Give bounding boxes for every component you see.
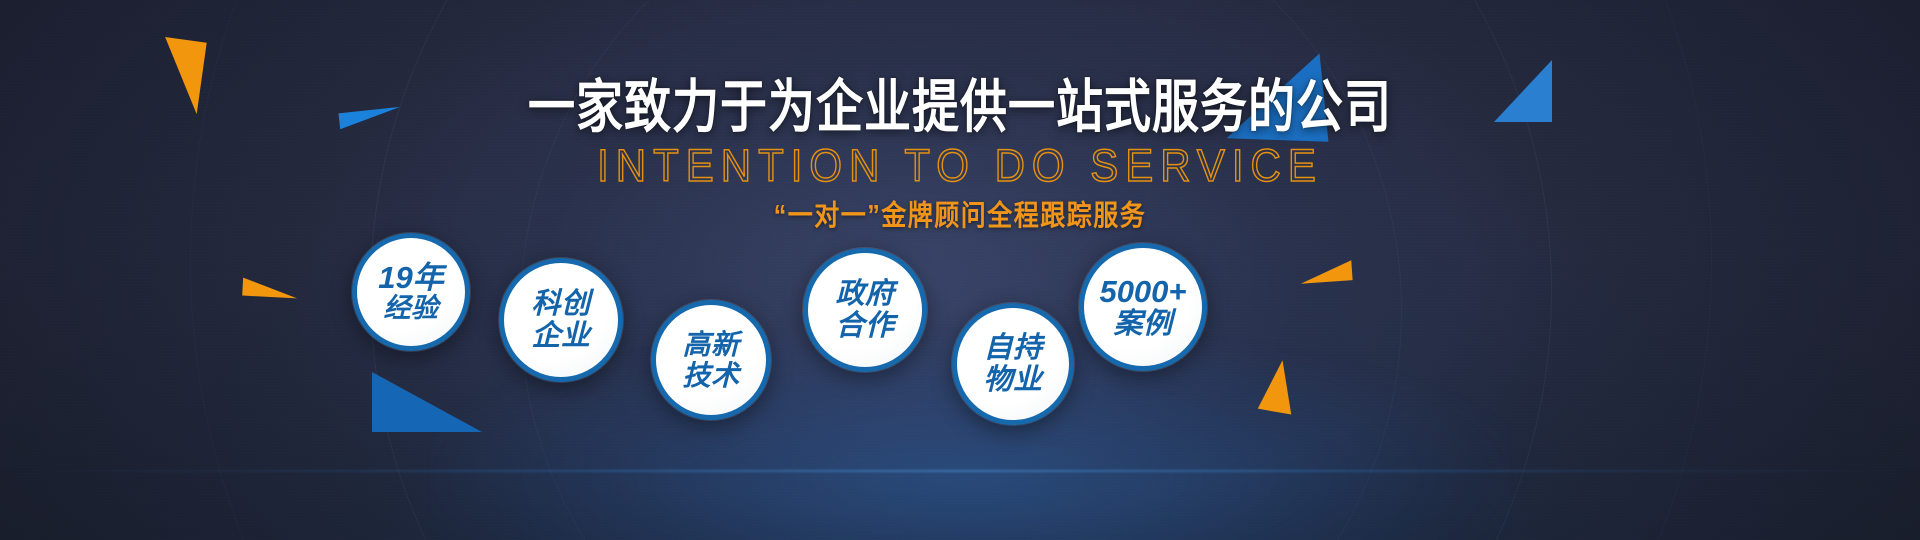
badge-line1: 高新: [682, 329, 739, 360]
tagline: “一对一”金牌顾问全程跟踪服务: [0, 199, 1920, 233]
hero-banner: 一家致力于为企业提供一站式服务的公司 INTENTION TO DO SERVI…: [0, 0, 1920, 540]
page-title: 一家致力于为企业提供一站式服务的公司: [0, 73, 1920, 141]
badge-line1: 科创: [531, 288, 590, 320]
english-subtitle: INTENTION TO DO SERVICE: [0, 140, 1920, 192]
badge-high-tech[interactable]: 高新 技术: [651, 300, 771, 420]
badge-line2: 合作: [835, 310, 894, 342]
badge-line2: 企业: [531, 320, 590, 352]
badge-government[interactable]: 政府 合作: [803, 248, 927, 372]
badge-cases[interactable]: 5000+ 案例: [1079, 243, 1207, 371]
badge-line1: 19年: [378, 261, 443, 294]
badge-line1: 5000+: [1099, 275, 1186, 308]
badge-line2: 物业: [983, 364, 1042, 396]
badge-tech-startup[interactable]: 科创 企业: [499, 258, 623, 382]
badge-line1: 政府: [835, 278, 894, 310]
badge-line2: 经验: [384, 294, 439, 323]
badge-property[interactable]: 自持 物业: [952, 303, 1074, 425]
badge-line2: 案例: [1113, 308, 1172, 340]
badge-line2: 技术: [682, 360, 739, 391]
triangle-orange-mid-left: [242, 264, 299, 299]
badge-experience[interactable]: 19年 经验: [352, 233, 470, 351]
triangle-orange-mid-right: [1299, 260, 1352, 284]
triangle-blue-lower-left: [372, 372, 482, 432]
badge-line1: 自持: [983, 332, 1042, 364]
